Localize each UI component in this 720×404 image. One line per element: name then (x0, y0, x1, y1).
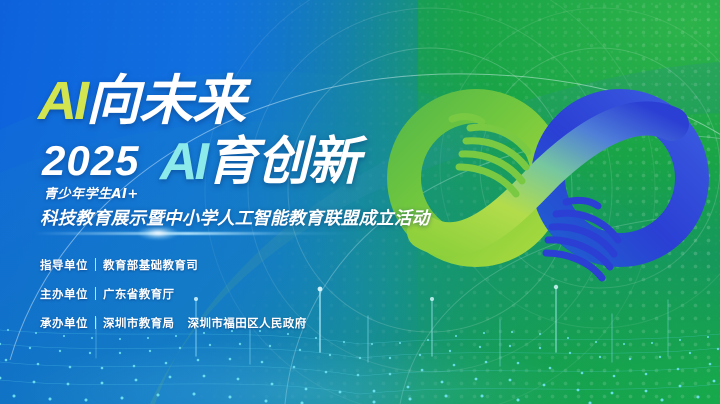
event-year: 2025 (42, 140, 139, 182)
credit-row: 主办单位 广东省教育厅 (40, 283, 307, 304)
credit-label: 主办单位 (40, 286, 88, 302)
headline-line-2: AI育创新 (160, 136, 359, 188)
divider-glow-bar (34, 232, 354, 235)
credit-row: 指导单位 教育部基础教育司 (40, 254, 307, 275)
headline-2-ai: AI (160, 133, 206, 191)
credit-label: 指导单位 (40, 257, 88, 273)
subtitle-text: 科技教育展示暨中小学人工智能教育联盟成立活动 (40, 205, 429, 230)
credit-row: 承办单位 深圳市教育局 深圳市福田区人民政府 (40, 312, 307, 333)
headline-2-zh: 育创新 (206, 132, 359, 192)
headline-1-zh: 向未来 (86, 69, 245, 132)
headline-1-ai: AI (38, 71, 86, 131)
credit-value: 广东省教育厅 (103, 286, 174, 302)
credit-separator (95, 316, 96, 329)
poster-banner: AI向未来 2025 AI育创新 青少年学生AI+ 科技教育展示暨中小学人工智能… (0, 0, 720, 404)
credits-list: 指导单位 教育部基础教育司 主办单位 广东省教育厅 承办单位 深圳市教育局 深圳… (40, 254, 307, 341)
credit-separator (95, 287, 96, 300)
credit-separator (95, 258, 96, 271)
text-content-block: AI向未来 2025 AI育创新 青少年学生AI+ 科技教育展示暨中小学人工智能… (0, 0, 440, 404)
credit-label: 承办单位 (40, 315, 88, 331)
credit-value: 深圳市教育局 深圳市福田区人民政府 (103, 315, 307, 331)
headline-line-1: AI向未来 (38, 74, 245, 128)
divider-glow-highlight (138, 226, 178, 240)
kicker-text: 青少年学生AI+ (44, 183, 139, 202)
credit-value: 教育部基础教育司 (103, 257, 198, 273)
